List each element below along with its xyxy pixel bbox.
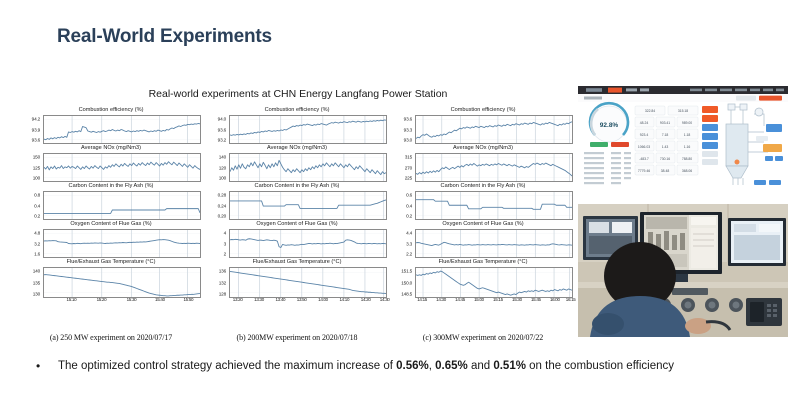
plot-area: [43, 191, 201, 220]
x-tick-label: 14:30: [436, 297, 446, 302]
subplot-title: Average NOx (mg/Nm3): [18, 145, 204, 152]
y-axis-ticks: 136132128: [204, 267, 228, 298]
control-room-graphic: [578, 204, 788, 337]
svg-text:368.06: 368.06: [682, 169, 692, 173]
panel-stack-c: Combustion efficiency (%)93.693.393.0Ave…: [390, 108, 576, 300]
subplot-c-3: Carbon Content in the Fly Ash (%)0.60.40…: [390, 184, 576, 220]
subplot-a-4: Oxygen Content of Flue Gas (%)4.83.21.6: [18, 222, 204, 258]
subplot-a-1: Combustion efficiency (%)94.293.993.6: [18, 108, 204, 144]
y-axis-ticks: 0.60.40.2: [390, 191, 414, 220]
y-tick-label: 2: [224, 251, 226, 256]
svg-text:903.41: 903.41: [660, 121, 670, 125]
plot-area: [229, 191, 387, 220]
y-tick-label: 4.8: [34, 231, 40, 236]
subplot-title: Flue/Exhaust Gas Temperature (°C): [18, 259, 204, 266]
y-tick-label: 150.0: [401, 280, 412, 285]
slide-root: Real-World Experiments Real-world experi…: [0, 0, 795, 400]
panel-stack-b: Combustion efficiency (%)94.093.693.2Ave…: [204, 108, 390, 300]
subplot-title: Combustion efficiency (%): [204, 107, 390, 114]
x-tick-label: 15:50: [183, 297, 193, 302]
y-tick-label: 140: [219, 155, 226, 160]
y-axis-ticks: 140135130: [18, 267, 42, 298]
subplot-b-4: Oxygen Content of Flue Gas (%)432: [204, 222, 390, 258]
plot-area: [229, 267, 387, 298]
subplot-c-4: Oxygen Content of Flue Gas (%)4.43.32.2: [390, 222, 576, 258]
plot-area: [43, 153, 201, 182]
y-tick-label: 0.24: [218, 203, 226, 208]
x-tick-label: 14:00: [318, 297, 328, 302]
plot-area: [43, 115, 201, 144]
plot-area: [415, 229, 573, 258]
svg-text:92.8%: 92.8%: [600, 122, 619, 129]
plot-area: [229, 153, 387, 182]
subfigure-caption-c: (c) 300MW experiment on 2020/07/22: [390, 333, 576, 342]
y-tick-label: 148.5: [401, 291, 412, 296]
y-tick-label: 93.0: [404, 137, 412, 142]
chart-column-b: Combustion efficiency (%)94.093.693.2Ave…: [204, 108, 390, 340]
y-tick-label: 0.6: [406, 193, 412, 198]
y-axis-ticks: 4.83.21.6: [18, 229, 42, 258]
y-tick-label: 135: [33, 280, 40, 285]
x-tick-label: 15:40: [155, 297, 165, 302]
subfigure-caption-b: (b) 200MW experiment on 2020/07/18: [204, 333, 390, 342]
y-tick-label: 100: [219, 175, 226, 180]
control-room-operator-photo: [578, 204, 788, 337]
x-tick-label: 13:40: [275, 297, 285, 302]
subplot-title: Flue/Exhaust Gas Temperature (°C): [204, 259, 390, 266]
y-tick-label: 2.2: [406, 251, 412, 256]
bullet-post: on the combustion efficiency: [526, 360, 674, 372]
plot-area: [229, 115, 387, 144]
figure-title: Real-world experiments at CHN Energy Lan…: [18, 88, 578, 100]
bullet-text: The optimized control strategy achieved …: [58, 358, 736, 375]
chart-columns: Combustion efficiency (%)94.293.993.6Ave…: [18, 108, 578, 340]
subplot-title: Oxygen Content of Flue Gas (%): [18, 221, 204, 228]
subplot-b-2: Average NOx (mg/Nm3)140120100: [204, 146, 390, 182]
x-tick-label: 14:20: [361, 297, 371, 302]
x-tick-label: 15:20: [97, 297, 107, 302]
subplot-title: Combustion efficiency (%): [390, 107, 576, 114]
y-tick-label: 136: [219, 269, 226, 274]
bullet-marker: •: [36, 358, 40, 375]
y-axis-ticks: 0.280.240.20: [204, 191, 228, 220]
subplot-a-2: Average NOx (mg/Nm3)150125100: [18, 146, 204, 182]
subplot-a-3: Carbon Content in the Fly Ash (%)0.80.40…: [18, 184, 204, 220]
summary-bullet: • The optimized control strategy achieve…: [36, 358, 736, 375]
subplot-title: Oxygen Content of Flue Gas (%): [390, 221, 576, 228]
x-tick-label: 15:10: [67, 297, 77, 302]
x-tick-label: 14:45: [455, 297, 465, 302]
page-title: Real-World Experiments: [57, 26, 272, 48]
y-tick-label: 0.4: [34, 203, 40, 208]
y-tick-label: 4.4: [406, 231, 412, 236]
plot-area: [43, 229, 201, 258]
y-tick-label: 1.6: [34, 251, 40, 256]
y-axis-ticks: 150125100: [18, 153, 42, 182]
bullet-sep-2: and: [468, 360, 494, 372]
subplot-b-3: Carbon Content in the Fly Ash (%)0.280.2…: [204, 184, 390, 220]
y-tick-label: 128: [219, 291, 226, 296]
x-tick-label: 15:30: [127, 297, 137, 302]
x-tick-label: 16:00: [550, 297, 560, 302]
subplot-title: Flue/Exhaust Gas Temperature (°C): [390, 259, 576, 266]
subplot-title: Oxygen Content of Flue Gas (%): [204, 221, 390, 228]
y-tick-label: 125: [33, 165, 40, 170]
y-tick-label: 315: [405, 155, 412, 160]
x-tick-label: 13:20: [233, 297, 243, 302]
subplot-a-5: Flue/Exhaust Gas Temperature (°C)1401351…: [18, 260, 204, 298]
y-tick-label: 93.6: [218, 127, 226, 132]
y-tick-label: 4: [224, 231, 226, 236]
y-tick-label: 93.3: [404, 127, 412, 132]
subplot-c-1: Combustion efficiency (%)93.693.393.0: [390, 108, 576, 144]
dcs-control-dashboard-screenshot: 92.8%: [578, 86, 788, 189]
y-tick-label: 3: [224, 241, 226, 246]
svg-text:730.16: 730.16: [660, 157, 670, 161]
x-tick-label: 15:15: [493, 297, 503, 302]
subplot-b-5: Flue/Exhaust Gas Temperature (°C)1361321…: [204, 260, 390, 298]
y-axis-ticks: 432: [204, 229, 228, 258]
svg-text:7.18: 7.18: [662, 133, 669, 137]
subplot-c-2: Average NOx (mg/Nm3)315270225: [390, 146, 576, 182]
x-axis-ticks: 13:2013:3013:4013:5014:0014:1014:2014:30: [229, 297, 387, 305]
x-tick-label: 15:45: [531, 297, 541, 302]
y-axis-ticks: 94.293.993.6: [18, 115, 42, 144]
y-tick-label: 3.2: [34, 241, 40, 246]
svg-text:48.24: 48.24: [640, 121, 649, 125]
y-axis-ticks: 140120100: [204, 153, 228, 182]
x-tick-label: 13:50: [297, 297, 307, 302]
y-tick-label: 94.0: [218, 117, 226, 122]
panel-stack-a: Combustion efficiency (%)94.293.993.6Ave…: [18, 108, 204, 300]
x-tick-label: 13:30: [254, 297, 264, 302]
subplot-title: Carbon Content in the Fly Ash (%): [204, 183, 390, 190]
subplot-title: Carbon Content in the Fly Ash (%): [18, 183, 204, 190]
svg-text:989.00: 989.00: [682, 121, 692, 125]
y-axis-ticks: 315270225: [390, 153, 414, 182]
y-tick-label: 93.2: [218, 137, 226, 142]
y-tick-label: 120: [219, 165, 226, 170]
y-tick-label: 0.20: [218, 213, 226, 218]
y-tick-label: 132: [219, 280, 226, 285]
subplot-c-5: Flue/Exhaust Gas Temperature (°C)151.515…: [390, 260, 576, 298]
svg-text:1.18: 1.18: [684, 133, 691, 137]
x-axis-ticks: 14:1514:3014:4515:0015:1515:3015:4516:00…: [415, 297, 573, 305]
plot-area: [415, 191, 573, 220]
y-tick-label: 93.9: [32, 127, 40, 132]
y-tick-label: 270: [405, 165, 412, 170]
chart-column-a: Combustion efficiency (%)94.293.993.6Ave…: [18, 108, 204, 340]
y-tick-label: 94.2: [32, 117, 40, 122]
plot-area: [415, 115, 573, 144]
experiments-figure: Real-world experiments at CHN Energy Lan…: [18, 88, 578, 338]
chart-column-c: Combustion efficiency (%)93.693.393.0Ave…: [390, 108, 576, 340]
plot-area: [415, 267, 573, 298]
svg-text:322.84: 322.84: [645, 109, 655, 113]
svg-text:315.18: 315.18: [678, 109, 688, 113]
y-tick-label: 0.2: [406, 213, 412, 218]
y-tick-label: 3.3: [406, 241, 412, 246]
svg-text:1066.03: 1066.03: [638, 145, 650, 149]
x-tick-label: 15:00: [474, 297, 484, 302]
y-tick-label: 151.5: [401, 269, 412, 274]
svg-text:1.16: 1.16: [684, 145, 691, 149]
y-axis-ticks: 94.093.693.2: [204, 115, 228, 144]
value-increase-a: 0.56%: [396, 360, 429, 372]
subplot-title: Average NOx (mg/Nm3): [204, 145, 390, 152]
subfigure-caption-a: (a) 250 MW experiment on 2020/07/17: [18, 333, 204, 342]
y-axis-ticks: 151.5150.0148.5: [390, 267, 414, 298]
y-tick-label: 93.6: [404, 117, 412, 122]
subplot-title: Carbon Content in the Fly Ash (%): [390, 183, 576, 190]
y-axis-ticks: 4.43.32.2: [390, 229, 414, 258]
y-tick-label: 225: [405, 175, 412, 180]
subplot-b-1: Combustion efficiency (%)94.093.693.2: [204, 108, 390, 144]
y-tick-label: 0.28: [218, 193, 226, 198]
svg-text:1.43: 1.43: [662, 145, 669, 149]
y-tick-label: 0.8: [34, 193, 40, 198]
x-tick-label: 14:10: [339, 297, 349, 302]
y-tick-label: 0.2: [34, 213, 40, 218]
svg-text:923.4: 923.4: [640, 133, 649, 137]
x-tick-label: 15:30: [512, 297, 522, 302]
y-tick-label: 130: [33, 291, 40, 296]
svg-text:-483.7: -483.7: [639, 157, 649, 161]
plot-area: [415, 153, 573, 182]
y-axis-ticks: 93.693.393.0: [390, 115, 414, 144]
y-tick-label: 150: [33, 155, 40, 160]
y-axis-ticks: 0.80.40.2: [18, 191, 42, 220]
x-axis-ticks: 15:1015:2015:3015:4015:50: [43, 297, 201, 305]
svg-text:38.48: 38.48: [661, 169, 670, 173]
y-tick-label: 100: [33, 175, 40, 180]
plot-area: [43, 267, 201, 298]
bullet-pre: The optimized control strategy achieved …: [58, 360, 396, 372]
subplot-title: Combustion efficiency (%): [18, 107, 204, 114]
subplot-title: Average NOx (mg/Nm3): [390, 145, 576, 152]
y-tick-label: 140: [33, 269, 40, 274]
plot-area: [229, 229, 387, 258]
y-tick-label: 93.6: [32, 137, 40, 142]
dcs-dashboard-graphic: 92.8%: [578, 86, 788, 189]
svg-text:7779.46: 7779.46: [638, 169, 650, 173]
x-tick-label: 14:30: [380, 297, 390, 302]
value-increase-b: 0.65%: [435, 360, 468, 372]
value-increase-c: 0.51%: [493, 360, 526, 372]
y-tick-label: 0.4: [406, 203, 412, 208]
x-tick-label: 14:15: [417, 297, 427, 302]
x-tick-label: 16:15: [566, 297, 576, 302]
svg-text:788.80: 788.80: [682, 157, 692, 161]
